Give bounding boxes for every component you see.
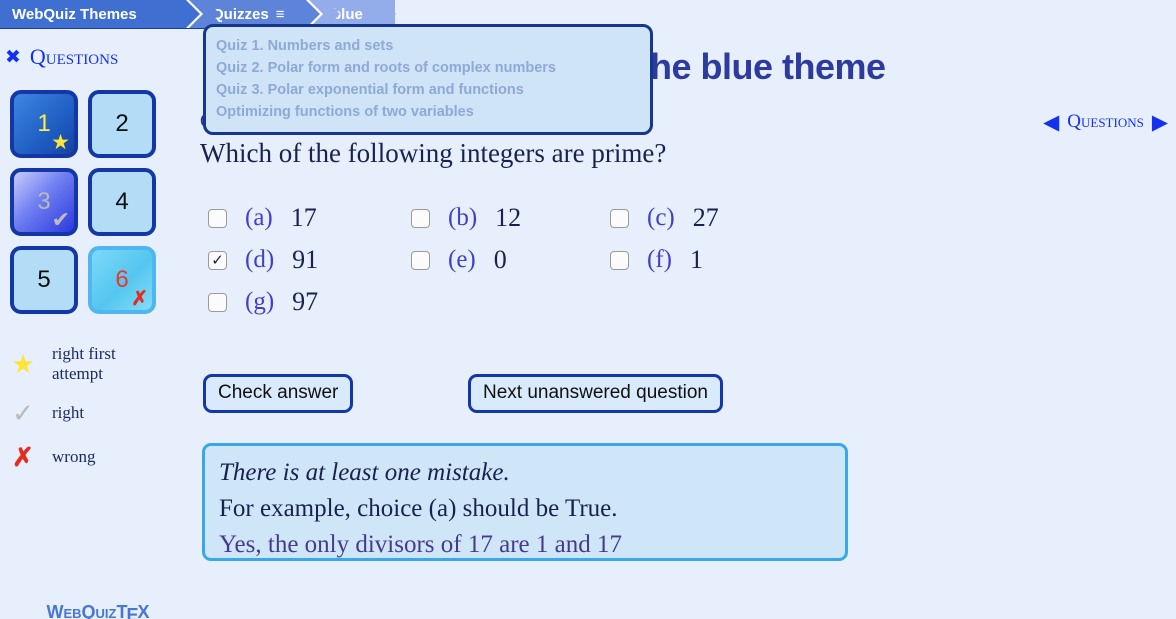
option-a-checkbox[interactable]: [208, 209, 227, 228]
page-title: he blue theme: [650, 46, 886, 88]
hamburger-menu-icon[interactable]: ≡: [276, 7, 285, 22]
sidebar: ✖ Questions 1 ★ 2 3 ✔ 4 5 6 ✗: [0, 40, 196, 486]
option-b-checkbox[interactable]: [411, 209, 430, 228]
legend-item-right-first-attempt-label: right first attempt: [52, 344, 157, 384]
dropdown-item-optimizing[interactable]: Optimizing functions of two variables: [216, 101, 640, 123]
legend-item-right-first-attempt: ★ right first attempt: [8, 344, 196, 384]
question-button-5-number: 5: [37, 266, 50, 294]
question-button-2-number: 2: [115, 110, 128, 138]
question-nav-label: Questions: [1067, 111, 1144, 133]
quizzes-dropdown-menu[interactable]: Quiz 1. Numbers and sets Quiz 2. Polar f…: [203, 24, 653, 135]
option-e-letter: (e): [448, 246, 476, 274]
answer-options: (a) 17 (b) 12 (c) 27 ✓ (d) 91 (e) 0 (f) …: [208, 203, 828, 317]
option-a-letter: (a): [245, 204, 273, 232]
star-icon: ★: [51, 132, 70, 153]
question-button-1-number: 1: [37, 110, 50, 138]
option-d-checkbox[interactable]: ✓: [208, 251, 227, 270]
dropdown-item-quiz-1[interactable]: Quiz 1. Numbers and sets: [216, 35, 640, 57]
brand-logo: WebQuizTEX: [0, 602, 196, 619]
option-g-letter: (g): [245, 288, 274, 316]
sidebar-heading: Questions: [30, 44, 118, 70]
question-button-1[interactable]: 1 ★: [10, 90, 78, 158]
question-button-4[interactable]: 4: [88, 168, 156, 236]
question-navigation: ◀ Questions ▶: [1043, 111, 1168, 133]
dropdown-item-quiz-3[interactable]: Quiz 3. Polar exponential form and funct…: [216, 79, 640, 101]
option-b-value: 12: [495, 203, 521, 233]
sidebar-header: ✖ Questions: [0, 40, 196, 74]
breadcrumb-item-quizzes-label: Quizzes: [212, 6, 269, 23]
legend-item-right: ✓ right: [8, 398, 196, 428]
brand-name-pre: WebQuiz: [46, 602, 116, 619]
question-text: Which of the following integers are prim…: [200, 138, 666, 169]
option-g[interactable]: (g) 97: [208, 287, 411, 317]
feedback-line-1: There is at least one mistake.: [219, 455, 831, 491]
close-icon[interactable]: ✖: [5, 48, 21, 67]
star-icon: ★: [8, 351, 38, 377]
option-c[interactable]: (c) 27: [610, 203, 810, 233]
option-e-value: 0: [494, 245, 507, 275]
feedback-line-3: Yes, the only divisors of 17 are 1 and 1…: [219, 527, 831, 563]
option-f-letter: (f): [647, 246, 672, 274]
option-f[interactable]: (f) 1: [610, 245, 810, 275]
question-button-grid: 1 ★ 2 3 ✔ 4 5 6 ✗: [10, 90, 196, 314]
check-answer-button[interactable]: Check answer: [203, 374, 353, 413]
legend-item-wrong: ✗ wrong: [8, 442, 196, 472]
breadcrumb-item-blue-label: blue: [332, 6, 363, 23]
cross-icon: ✗: [131, 289, 148, 309]
feedback-panel: There is at least one mistake. For examp…: [202, 443, 848, 561]
option-d[interactable]: ✓ (d) 91: [208, 245, 411, 275]
option-d-letter: (d): [245, 246, 274, 274]
question-button-2[interactable]: 2: [88, 90, 156, 158]
question-button-3-number: 3: [37, 188, 50, 216]
check-icon: ✓: [8, 400, 38, 426]
option-a[interactable]: (a) 17: [208, 203, 411, 233]
legend-item-right-label: right: [52, 403, 84, 423]
dropdown-item-quiz-2[interactable]: Quiz 2. Polar form and roots of complex …: [216, 57, 640, 79]
option-a-value: 17: [291, 203, 317, 233]
question-button-5[interactable]: 5: [10, 246, 78, 314]
check-icon: ✔: [52, 209, 70, 231]
option-c-value: 27: [693, 203, 719, 233]
legend-item-wrong-label: wrong: [52, 447, 95, 467]
option-b-letter: (b): [448, 204, 477, 232]
breadcrumb-item-themes-label: WebQuiz Themes: [12, 6, 137, 23]
option-c-letter: (c): [647, 204, 675, 232]
legend: ★ right first attempt ✓ right ✗ wrong: [8, 344, 196, 472]
breadcrumb-item-themes[interactable]: WebQuiz Themes: [0, 0, 200, 28]
question-button-3[interactable]: 3 ✔: [10, 168, 78, 236]
option-f-checkbox[interactable]: [610, 251, 629, 270]
feedback-line-2: For example, choice (a) should be True.: [219, 491, 831, 527]
cross-icon: ✗: [8, 444, 38, 470]
option-g-value: 97: [292, 287, 318, 317]
brand-name-x: X: [138, 602, 150, 619]
question-button-6[interactable]: 6 ✗: [88, 246, 156, 314]
option-f-value: 1: [690, 245, 703, 275]
next-question-icon[interactable]: ▶: [1152, 112, 1168, 133]
question-button-6-number: 6: [115, 266, 128, 294]
next-unanswered-question-button[interactable]: Next unanswered question: [468, 374, 723, 413]
footer: WebQuizTEX © Copyright 2004-2019: [0, 602, 196, 619]
option-g-checkbox[interactable]: [208, 293, 227, 312]
previous-question-icon[interactable]: ◀: [1043, 112, 1059, 133]
option-e[interactable]: (e) 0: [411, 245, 610, 275]
option-c-checkbox[interactable]: [610, 209, 629, 228]
option-d-value: 91: [292, 245, 318, 275]
option-b[interactable]: (b) 12: [411, 203, 610, 233]
question-button-4-number: 4: [115, 188, 128, 216]
option-e-checkbox[interactable]: [411, 251, 430, 270]
brand-name-e: E: [126, 605, 138, 619]
